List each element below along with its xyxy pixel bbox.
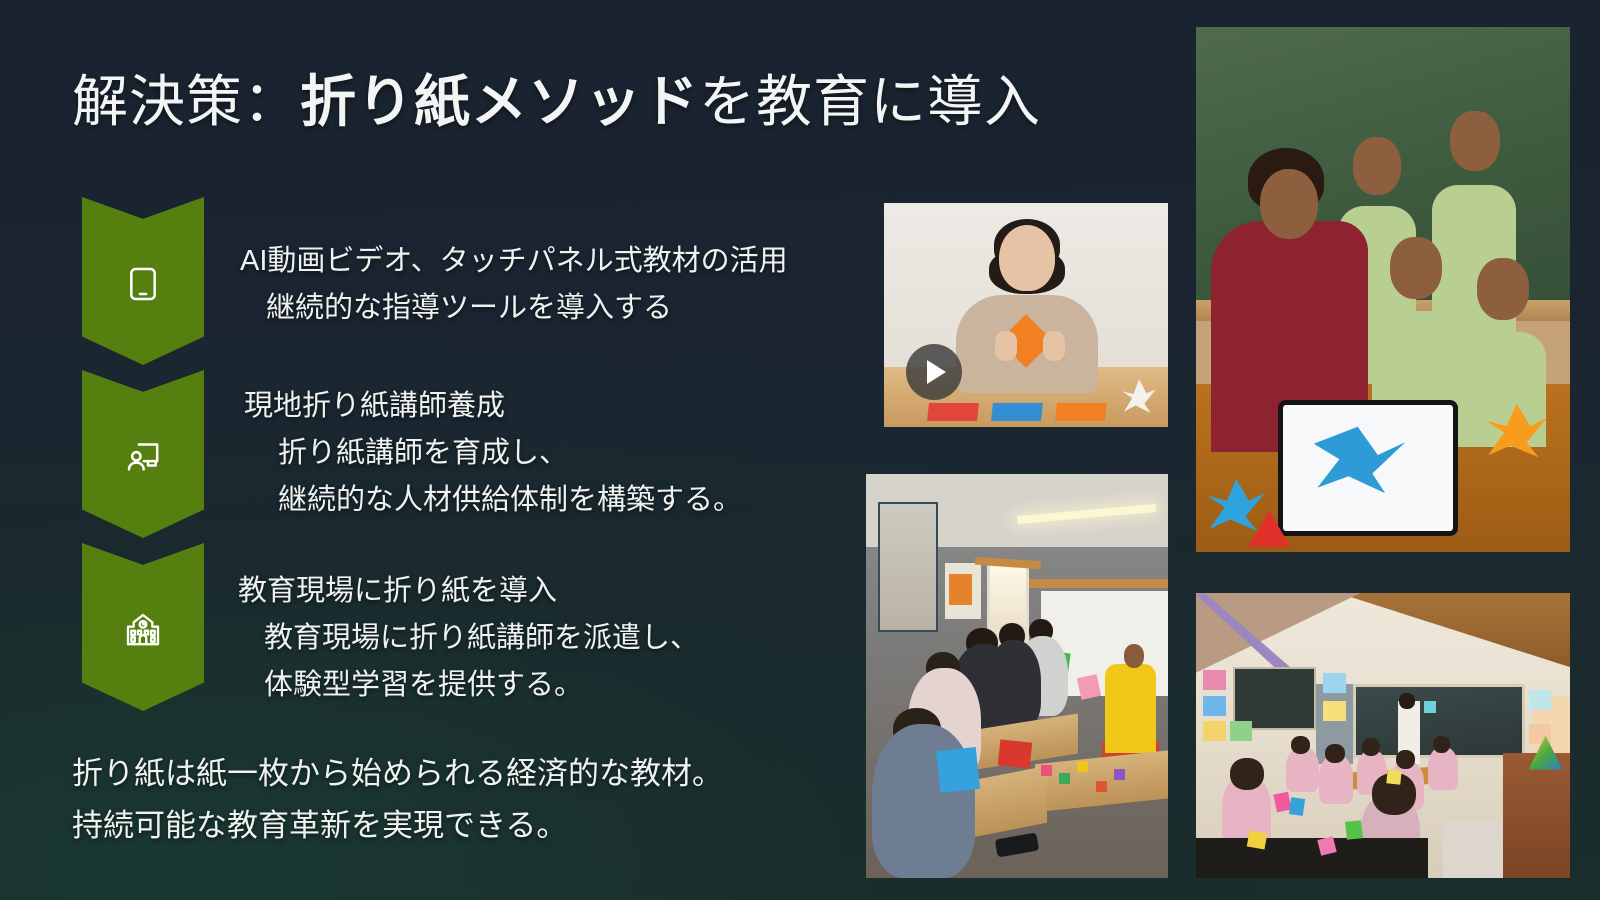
video-hand-left — [995, 331, 1017, 361]
bullet-block-3: 教育現場に折り紙を導入 教育現場に折り紙講師を派遣し、 体験型学習を提供する。 — [238, 568, 699, 709]
classroom-origami-lesson-photo — [1196, 593, 1570, 878]
wall-chart — [1323, 701, 1345, 721]
orange-grid-poster — [945, 563, 981, 620]
student-head — [1396, 750, 1415, 769]
origami-model — [1041, 765, 1052, 776]
teacher-and-students-tablet-photo — [1196, 27, 1570, 552]
school-building-icon — [123, 610, 163, 650]
wall-chart — [1203, 696, 1225, 716]
bullet-line: 教育現場に折り紙講師を派遣し、 — [238, 615, 699, 662]
student-head — [1477, 258, 1529, 320]
yellow-paper — [1386, 769, 1401, 784]
student-body — [1428, 747, 1458, 790]
title-suffix: を教育に導入 — [699, 72, 1041, 134]
instructor-head — [1124, 644, 1144, 668]
student-head — [1325, 744, 1345, 763]
screen-crane-diagram — [1314, 422, 1406, 493]
origami-model — [1077, 761, 1088, 772]
video-hand-right — [1043, 331, 1065, 361]
blue-paper — [1288, 797, 1304, 816]
student-head — [1291, 736, 1310, 754]
student-head — [1353, 137, 1401, 195]
play-icon[interactable] — [906, 344, 962, 400]
bullet-line: 教育現場に折り紙を導入 — [238, 568, 699, 615]
bullet-block-2: 現地折り紙講師養成 折り紙講師を育成し、 継続的な人材供給体制を構築する。 — [244, 383, 742, 524]
slide-canvas: 解決策：折り紙メソッドを教育に導入 — [0, 0, 1600, 900]
origami-model — [1096, 781, 1107, 792]
pink-paper — [1076, 674, 1100, 700]
student-head — [1450, 111, 1500, 171]
front-desk — [1196, 838, 1428, 878]
bullet-line: 折り紙講師を育成し、 — [244, 430, 742, 477]
participant-body — [872, 724, 975, 878]
title-emphasis: 折り紙メソッド — [300, 72, 699, 134]
student-head — [1230, 758, 1264, 790]
wooden-shelf — [1503, 753, 1570, 878]
bullet-line: 体験型学習を提供する。 — [238, 662, 699, 709]
wall-chart — [1203, 670, 1225, 690]
origami-model — [1059, 773, 1070, 784]
teacher-head — [1260, 169, 1318, 239]
chevron-badge-2 — [82, 370, 204, 538]
wall-chart — [1323, 673, 1345, 693]
student-head — [1390, 237, 1442, 299]
chevron-badge-1 — [82, 197, 204, 365]
red-paper — [998, 739, 1033, 768]
page-title: 解決策：折り紙メソッドを教育に導入 — [72, 72, 1041, 135]
video-person-head — [999, 225, 1055, 291]
bullet-line: 現地折り紙講師養成 — [244, 383, 742, 430]
origami-model — [1114, 769, 1125, 780]
instructor-shirt — [1105, 664, 1156, 753]
bullet-block-1: AI動画ビデオ、タッチパネル式教材の活用 継続的な指導ツールを導入する — [240, 238, 788, 332]
wall-chart — [1203, 721, 1225, 741]
bullet-line: 継続的な人材供給体制を構築する。 — [244, 477, 742, 524]
tablet-screen — [1283, 405, 1453, 532]
tablet-icon — [123, 264, 163, 304]
bullet-line: 継続的な指導ツールを導入する — [240, 285, 788, 332]
anatomy-poster — [878, 502, 938, 631]
wall-chart — [1230, 721, 1252, 741]
footer-line: 折り紙は紙一枚から始められる経済的な教材。 — [72, 748, 723, 800]
chevron-badge-3 — [82, 543, 204, 711]
video-paper-orange — [1055, 403, 1107, 421]
instructor-training-workshop-photo — [866, 474, 1168, 878]
student-body — [1286, 747, 1320, 793]
wooden-beam — [1029, 579, 1168, 588]
bullet-line: AI動画ビデオ、タッチパネル式教材の活用 — [240, 238, 788, 285]
origami-instruction-video[interactable] — [884, 203, 1168, 427]
yellow-paper — [1247, 831, 1268, 850]
instructor-presentation-icon — [123, 437, 163, 477]
student-head — [1433, 736, 1450, 753]
video-paper-red — [927, 403, 979, 421]
green-paper — [1345, 820, 1363, 840]
video-paper-blue — [991, 403, 1043, 421]
footer-line: 持続可能な教育革新を実現できる。 — [72, 800, 723, 852]
chalk-in-hand — [1424, 701, 1436, 713]
wall-chart — [1529, 690, 1551, 710]
tablet-device — [1278, 400, 1458, 537]
teacher-head — [1399, 693, 1415, 709]
title-prefix: 解決策： — [72, 72, 300, 134]
blue-paper — [936, 747, 980, 793]
play-triangle — [927, 360, 946, 384]
footer-note: 折り紙は紙一枚から始められる経済的な教材。 持続可能な教育革新を実現できる。 — [72, 748, 723, 852]
pink-paper — [1273, 791, 1291, 812]
